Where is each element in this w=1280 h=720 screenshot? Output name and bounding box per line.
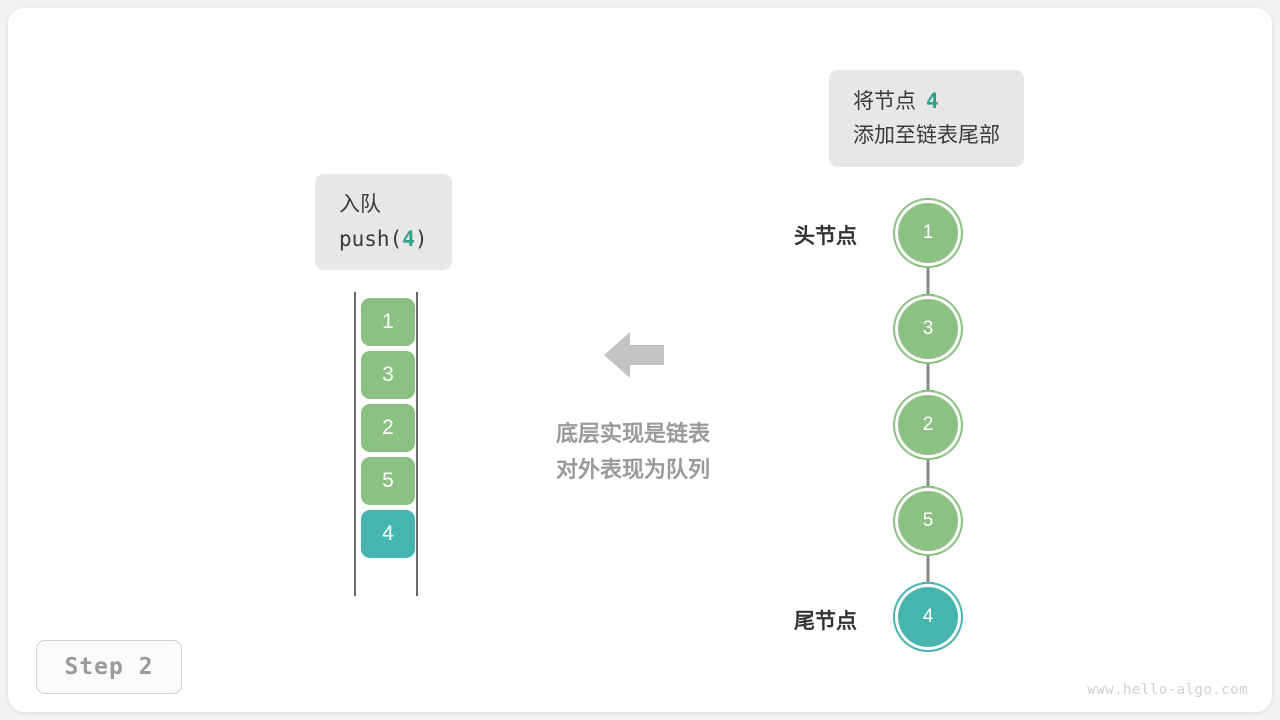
queue-rail-right	[416, 292, 418, 596]
callout-append-line2: 添加至链表尾部	[853, 119, 1000, 153]
list-node: 1	[898, 203, 958, 263]
queue-block: 3	[361, 351, 415, 399]
queue-block: 5	[361, 457, 415, 505]
diagram-canvas: 入队 push(4) 将节点4 添加至链表尾部 1 3 2 5 4 底层实现是链…	[8, 8, 1272, 712]
center-caption: 底层实现是链表 对外表现为队列	[474, 416, 792, 488]
queue-block: 1	[361, 298, 415, 346]
list-node: 5	[898, 491, 958, 551]
callout-push-suffix: )	[415, 227, 428, 251]
queue-rail-left	[354, 292, 356, 596]
head-node-label: 头节点	[794, 220, 857, 250]
list-node: 3	[898, 299, 958, 359]
list-node-highlighted: 4	[898, 587, 958, 647]
callout-push-value: 4	[402, 227, 415, 251]
callout-append-value: 4	[926, 89, 939, 113]
left-arrow-icon	[604, 330, 664, 380]
caption-line1: 底层实现是链表	[474, 416, 792, 452]
callout-append-prefix: 将节点	[853, 90, 916, 113]
callout-push-operation: 入队 push(4)	[315, 174, 452, 270]
callout-append-line1: 将节点4	[853, 84, 1000, 119]
caption-line2: 对外表现为队列	[474, 452, 792, 488]
queue-block-highlighted: 4	[361, 510, 415, 558]
tail-node-label: 尾节点	[794, 605, 857, 635]
step-badge: Step 2	[36, 640, 182, 694]
list-node: 2	[898, 395, 958, 455]
callout-append-to-tail: 将节点4 添加至链表尾部	[829, 70, 1024, 167]
callout-push-line2: push(4)	[339, 222, 428, 256]
callout-push-line1: 入队	[339, 188, 428, 222]
callout-push-prefix: push(	[339, 227, 402, 251]
watermark: www.hello-algo.com	[1087, 682, 1248, 698]
queue-block: 2	[361, 404, 415, 452]
